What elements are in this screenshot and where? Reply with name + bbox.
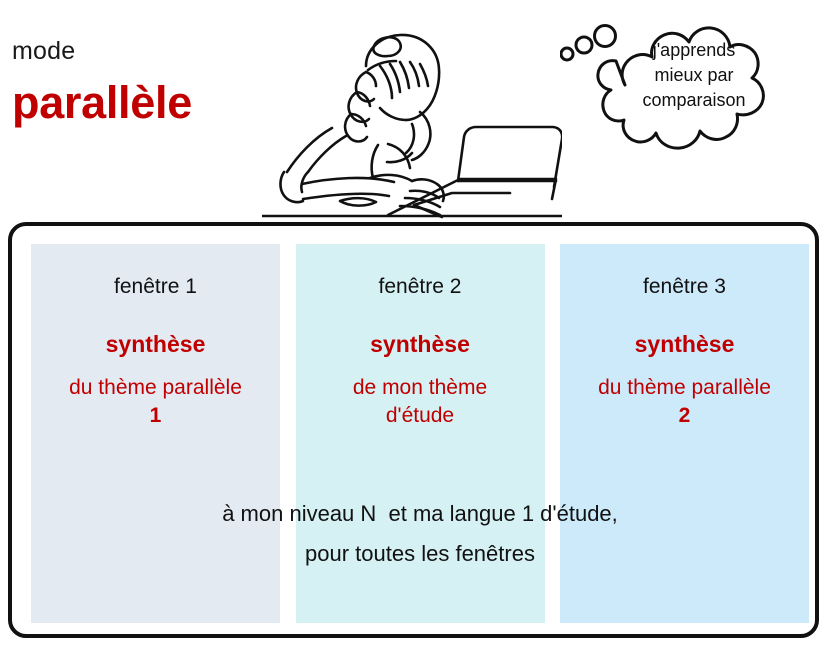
mode-label: mode [12, 36, 282, 66]
person-thinking-at-laptop-illustration [262, 8, 562, 222]
thought-cloud-icon: j'apprends mieux par comparaison [560, 4, 826, 164]
window-panel-2[interactable]: fenêtre 2 synthèse de mon thème d'étude [296, 244, 545, 623]
title-block: mode parallèle [12, 36, 282, 130]
window-1-subline-1: du thème parallèle [31, 374, 280, 402]
window-1-subline-2: 1 [31, 402, 280, 430]
thought-line-2: mieux par [608, 63, 780, 88]
window-3-subline-2: 2 [560, 402, 809, 430]
header-area: mode parallèle [0, 0, 829, 222]
windows-row: fenêtre 1 synthèse du thème parallèle 1 … [31, 244, 809, 623]
window-2-subline-1: de mon thème [296, 374, 545, 402]
window-panel-3[interactable]: fenêtre 3 synthèse du thème parallèle 2 [560, 244, 809, 623]
page-title: parallèle [12, 76, 282, 130]
windows-container: fenêtre 1 synthèse du thème parallèle 1 … [8, 222, 819, 638]
window-3-label: fenêtre 3 [560, 274, 809, 300]
window-2-label: fenêtre 2 [296, 274, 545, 300]
window-1-synthese: synthèse [31, 330, 280, 358]
thought-line-3: comparaison [608, 88, 780, 113]
window-2-subline-2: d'étude [296, 402, 545, 430]
window-3-subline-1: du thème parallèle [560, 374, 809, 402]
window-1-label: fenêtre 1 [31, 274, 280, 300]
window-panel-1[interactable]: fenêtre 1 synthèse du thème parallèle 1 [31, 244, 280, 623]
window-3-synthese: synthèse [560, 330, 809, 358]
window-2-synthese: synthèse [296, 330, 545, 358]
thought-line-1: j'apprends [608, 38, 780, 63]
thought-bubble-text: j'apprends mieux par comparaison [608, 38, 780, 113]
